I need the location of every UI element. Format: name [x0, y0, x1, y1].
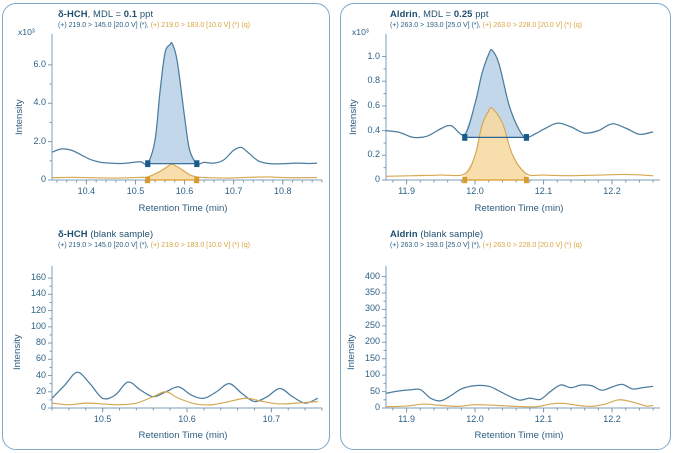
- y-axis-tick-label: 100: [338, 369, 380, 379]
- y-axis-tick-label: 350: [338, 287, 380, 297]
- y-axis-tick-label: 0: [338, 174, 380, 184]
- chart-delta-hch-standard: δ-HCH, MDL = 0.1 ppt (+) 219.0 > 145.0 […: [0, 0, 336, 222]
- x-axis-tick-label: 10.5: [81, 414, 125, 424]
- x-axis-tick-label: 11.9: [385, 414, 429, 424]
- x-axis-tick-label: 12.0: [453, 414, 497, 424]
- x-axis-title: Retention Time (min): [382, 430, 656, 441]
- y-axis-tick-label: 0.4: [338, 125, 380, 135]
- y-axis-tick-label: 100: [4, 321, 46, 331]
- x-axis-title: Retention Time (min): [48, 430, 318, 441]
- y-axis-tick-label: 120: [4, 305, 46, 315]
- y-axis-tick-label: 160: [4, 272, 46, 282]
- x-axis-tick-label: 12.2: [590, 414, 634, 424]
- y-axis-tick-label: 400: [338, 271, 380, 281]
- y-axis-tick-label: 4.0: [4, 97, 46, 107]
- x-axis-tick-label: 12.0: [453, 186, 497, 196]
- y-axis-tick-label: 0.6: [338, 100, 380, 110]
- y-axis-tick-label: 200: [338, 336, 380, 346]
- y-axis-tick-label: 2.0: [4, 136, 46, 146]
- y-axis-tick-label: 0: [338, 402, 380, 412]
- y-axis-tick-label: 60: [4, 353, 46, 363]
- x-axis-tick-label: 10.6: [163, 186, 207, 196]
- x-axis-title: Retention Time (min): [48, 203, 318, 214]
- x-axis-tick-label: 10.8: [261, 186, 305, 196]
- y-axis-tick-label: 80: [4, 337, 46, 347]
- plot-area: [0, 0, 336, 200]
- x-axis-tick-label: 10.7: [249, 414, 293, 424]
- y-axis-tick-label: 1.0: [338, 51, 380, 61]
- x-axis-tick-label: 12.1: [522, 414, 566, 424]
- plot-area: [338, 0, 673, 200]
- y-axis-tick-label: 250: [338, 320, 380, 330]
- plot-area: [338, 222, 673, 427]
- x-axis-tick-label: 12.1: [522, 186, 566, 196]
- y-axis-tick-label: 0.8: [338, 75, 380, 85]
- y-axis-tick-label: 0: [4, 402, 46, 412]
- chart-aldrin-standard: Aldrin, MDL = 0.25 ppt (+) 263.0 > 193.0…: [338, 0, 673, 222]
- y-axis-tick-label: 140: [4, 288, 46, 298]
- y-axis-tick-label: 300: [338, 303, 380, 313]
- y-axis-tick-label: 150: [338, 353, 380, 363]
- y-axis-tick-label: 0: [4, 174, 46, 184]
- y-axis-tick-label: 40: [4, 370, 46, 380]
- x-axis-tick-label: 10.5: [113, 186, 157, 196]
- figure-root: δ-HCH, MDL = 0.1 ppt (+) 219.0 > 145.0 […: [0, 0, 673, 453]
- x-axis-tick-label: 12.2: [590, 186, 634, 196]
- y-axis-tick-label: 0.2: [338, 149, 380, 159]
- x-axis-tick-label: 10.7: [212, 186, 256, 196]
- plot-area: [0, 222, 336, 427]
- y-axis-tick-label: 50: [338, 386, 380, 396]
- y-axis-tick-label: 20: [4, 386, 46, 396]
- y-axis-tick-label: 6.0: [4, 59, 46, 69]
- x-axis-tick-label: 11.9: [385, 186, 429, 196]
- chart-delta-hch-blank: δ-HCH (blank sample) (+) 219.0 > 145.0 […: [0, 222, 336, 450]
- x-axis-tick-label: 10.6: [165, 414, 209, 424]
- x-axis-title: Retention Time (min): [382, 203, 656, 214]
- x-axis-tick-label: 10.4: [64, 186, 108, 196]
- chart-aldrin-blank: Aldrin (blank sample) (+) 263.0 > 193.0 …: [338, 222, 673, 450]
